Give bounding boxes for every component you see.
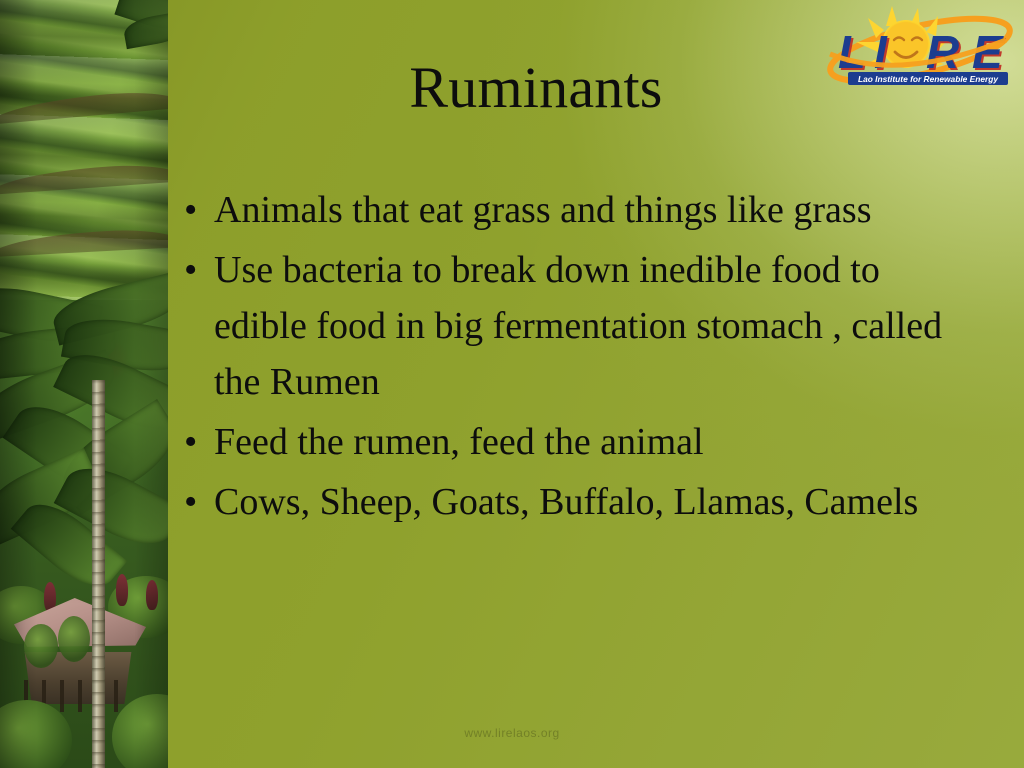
bullet-marker-icon: • — [182, 242, 214, 298]
bullet-list: • Animals that eat grass and things like… — [182, 182, 972, 534]
sun-face — [883, 21, 929, 67]
list-item: • Use bacteria to break down inedible fo… — [182, 242, 972, 410]
page-title: Ruminants — [186, 58, 886, 119]
bullet-marker-icon: • — [182, 474, 214, 530]
list-item-text: Use bacteria to break down inedible food… — [214, 242, 972, 410]
bullet-marker-icon: • — [182, 182, 214, 238]
bullet-marker-icon: • — [182, 414, 214, 470]
list-item: • Feed the rumen, feed the animal — [182, 414, 972, 470]
list-item-text: Feed the rumen, feed the animal — [214, 414, 972, 470]
list-item: • Cows, Sheep, Goats, Buffalo, Llamas, C… — [182, 474, 972, 530]
list-item: • Animals that eat grass and things like… — [182, 182, 972, 238]
svg-text:R: R — [926, 26, 959, 78]
list-item-text: Animals that eat grass and things like g… — [214, 182, 972, 238]
photo-vignette — [0, 0, 168, 768]
slide: L L I I R R E E Lao Institute for Renewa… — [0, 0, 1024, 768]
list-item-text: Cows, Sheep, Goats, Buffalo, Llamas, Cam… — [214, 474, 972, 530]
footer-url: www.lirelaos.org — [0, 726, 1024, 740]
rice-terrace-photo — [0, 0, 168, 768]
